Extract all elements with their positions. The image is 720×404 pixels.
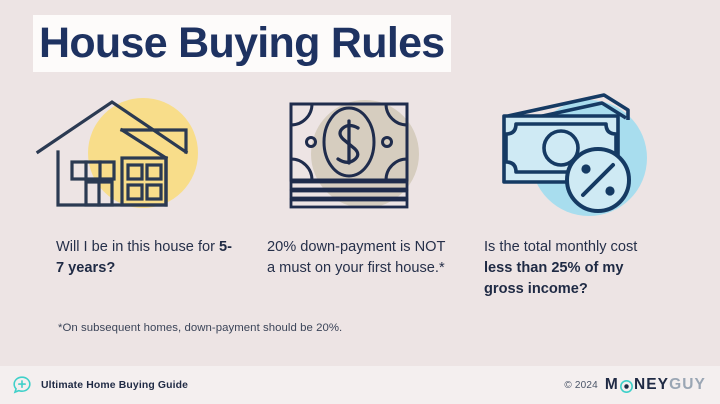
brand-o-mark [620, 380, 633, 393]
cash-percent-icon [476, 90, 676, 220]
brand-guy: GUY [669, 376, 706, 394]
house-icon-container [34, 90, 255, 220]
cash-percent-icon-container [476, 90, 697, 220]
rule-caption-3-plain: Is the total monthly cost [484, 239, 637, 255]
rules-columns: Will I be in this house for 5-7 years? [0, 90, 720, 300]
rule-column-3: Is the total monthly cost less than 25% … [476, 90, 697, 300]
rule-caption-1: Will I be in this house for 5-7 years? [56, 237, 236, 279]
page-title-highlight: House Buying Rules [33, 15, 451, 72]
rule-caption-3-bold: less than 25% of my gross income? [484, 260, 624, 297]
rule-caption-3: Is the total monthly cost less than 25% … [484, 237, 664, 300]
rule-caption-2: 20% down-payment is NOT a must on your f… [267, 237, 447, 279]
page-title: House Buying Rules [39, 22, 445, 65]
dollar-bill-icon [255, 90, 445, 220]
footnote: *On subsequent homes, down-payment shoul… [58, 322, 342, 334]
moneyguy-logo[interactable]: M NEY GUY [605, 376, 706, 394]
dollar-bill-icon-container [255, 90, 476, 220]
rule-column-2: 20% down-payment is NOT a must on your f… [255, 90, 476, 300]
footer-brand: © 2024 M NEY GUY [564, 376, 706, 394]
rule-caption-2-plain: 20% down-payment is NOT a must on your f… [267, 239, 445, 276]
copyright-text: © 2024 [564, 380, 598, 391]
house-icon [34, 90, 219, 220]
infographic-root: House Buying Rules [0, 0, 720, 404]
chat-plus-icon [12, 375, 32, 395]
brand-money-m: M [605, 376, 619, 394]
footer-bar: Ultimate Home Buying Guide © 2024 M NEY … [0, 366, 720, 404]
rule-column-1: Will I be in this house for 5-7 years? [34, 90, 255, 300]
brand-money-rest: NEY [634, 376, 669, 394]
rule-caption-1-plain: Will I be in this house for [56, 239, 219, 255]
footer-guide-link[interactable]: Ultimate Home Buying Guide [12, 375, 188, 395]
footer-guide-label: Ultimate Home Buying Guide [41, 380, 188, 391]
